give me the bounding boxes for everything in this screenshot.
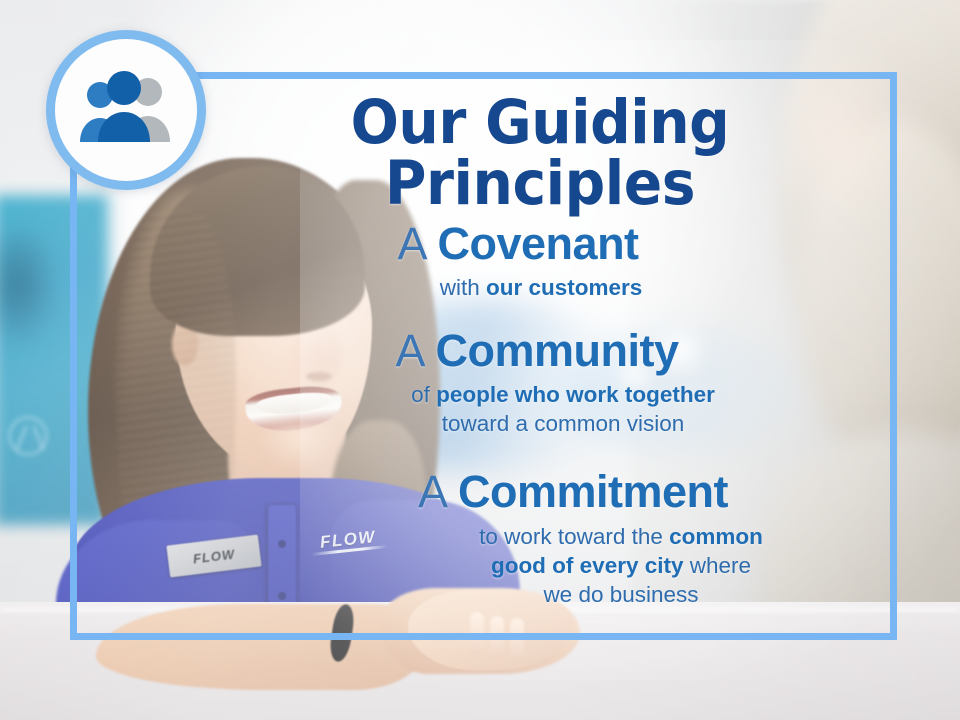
principle-subtext-line: good of every city where <box>352 551 890 580</box>
guiding-principles-graphic: FLOW FLOW Our Gui <box>0 0 960 720</box>
plain-text: we do business <box>543 582 698 607</box>
principle-keyword: Commitment <box>458 466 728 517</box>
principle-subtext-line: to work toward the common <box>352 522 890 551</box>
plain-text: of <box>411 382 436 407</box>
emphasis-text: good of every city <box>491 553 684 578</box>
principle-subtext: with our customers <box>190 273 846 302</box>
principle-headline: A Commitment <box>256 468 890 515</box>
principle-article: A <box>395 325 423 376</box>
people-group-icon <box>72 71 180 149</box>
principle-subtext-line: of people who work together <box>242 380 884 409</box>
poster-shadow <box>0 230 60 350</box>
plain-text: where <box>684 553 752 578</box>
principle-keyword: Covenant <box>438 218 639 269</box>
plain-text: to work toward the <box>479 524 669 549</box>
principle-subtext: to work toward the commongood of every c… <box>256 522 890 610</box>
principle-subtext-line: toward a common vision <box>242 409 884 438</box>
principle-headline: A Community <box>190 327 884 374</box>
emphasis-text: people who work together <box>436 382 715 407</box>
principle-covenant: A Covenant with our customers <box>190 220 890 303</box>
plain-text: with <box>440 275 486 300</box>
emphasis-text: our customers <box>486 275 642 300</box>
principle-subtext-line: with our customers <box>236 273 846 302</box>
principle-subtext: of people who work togethertoward a comm… <box>190 380 884 439</box>
principle-headline: A Covenant <box>190 220 846 267</box>
plain-text: toward a common vision <box>442 411 685 436</box>
principle-keyword: Community <box>436 325 679 376</box>
principle-subtext-line: we do business <box>352 580 890 609</box>
people-group-badge <box>46 30 206 190</box>
principle-community: A Community of people who work togethert… <box>190 327 890 439</box>
text-content: Our Guiding Principles A Covenant with o… <box>190 78 890 638</box>
principle-commitment: A Commitment to work toward the commongo… <box>190 468 890 609</box>
emphasis-text: common <box>669 524 763 549</box>
vw-logo-icon <box>8 416 48 456</box>
page-title: Our Guiding Principles <box>215 78 866 214</box>
principle-article: A <box>397 218 425 269</box>
principle-article: A <box>418 466 446 517</box>
